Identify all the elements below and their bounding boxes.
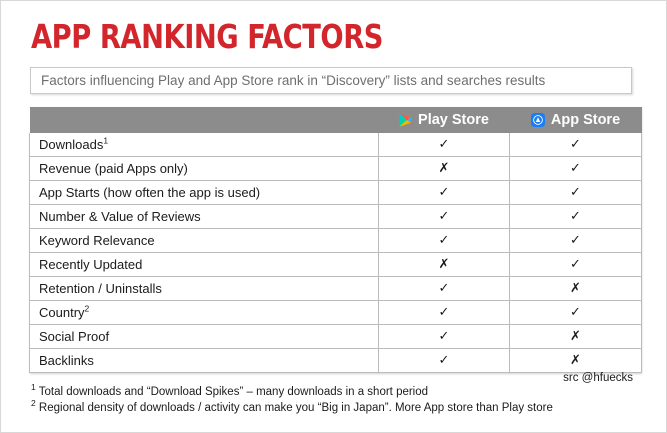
play-store-mark-cell: ✓ bbox=[379, 325, 510, 349]
table-row: App Starts (how often the app is used)✓✓ bbox=[30, 181, 642, 205]
check-icon: ✓ bbox=[439, 209, 450, 224]
slide-canvas: APP RANKING FACTORS Factors influencing … bbox=[0, 0, 667, 433]
table-row: Social Proof✓✗ bbox=[30, 325, 642, 349]
table-header-row: Play Store App St bbox=[30, 107, 642, 133]
factor-name-cell: Backlinks bbox=[30, 349, 379, 373]
app-store-mark-cell: ✓ bbox=[510, 229, 642, 253]
app-store-mark-cell: ✗ bbox=[510, 325, 642, 349]
factor-label: Retention / Uninstalls bbox=[39, 281, 162, 296]
source-credit: src @hfuecks bbox=[563, 372, 633, 384]
play-store-mark-cell: ✗ bbox=[379, 157, 510, 181]
factor-name-cell: Number & Value of Reviews bbox=[30, 205, 379, 229]
app-store-mark-cell: ✓ bbox=[510, 253, 642, 277]
footnote-text: Regional density of downloads / activity… bbox=[36, 402, 553, 414]
factor-name-cell: Revenue (paid Apps only) bbox=[30, 157, 379, 181]
factor-label: Recently Updated bbox=[39, 257, 142, 272]
factor-name-cell: Downloads1 bbox=[30, 133, 379, 157]
column-header-play-store: Play Store bbox=[379, 107, 510, 133]
column-header-app-store: App Store bbox=[510, 107, 642, 133]
factor-label: Revenue (paid Apps only) bbox=[39, 161, 188, 176]
app-store-mark-cell: ✗ bbox=[510, 277, 642, 301]
ranking-factors-table-wrapper: Play Store App St bbox=[29, 107, 641, 373]
play-store-mark-cell: ✓ bbox=[379, 133, 510, 157]
app-store-mark-cell: ✓ bbox=[510, 181, 642, 205]
factor-label: Backlinks bbox=[39, 353, 94, 368]
factor-label: Number & Value of Reviews bbox=[39, 209, 201, 224]
table-row: Country2✓✓ bbox=[30, 301, 642, 325]
table-row: Downloads1✓✓ bbox=[30, 133, 642, 157]
table-row: Backlinks✓✗ bbox=[30, 349, 642, 373]
check-icon: ✓ bbox=[439, 329, 450, 344]
ranking-factors-table: Play Store App St bbox=[29, 107, 642, 373]
check-icon: ✓ bbox=[439, 353, 450, 368]
check-icon: ✓ bbox=[439, 137, 450, 152]
column-header-app-store-label: App Store bbox=[551, 112, 620, 128]
app-store-mark-cell: ✗ bbox=[510, 349, 642, 373]
factor-label: Social Proof bbox=[39, 329, 109, 344]
page-title: APP RANKING FACTORS bbox=[31, 19, 383, 55]
factor-name-cell: Retention / Uninstalls bbox=[30, 277, 379, 301]
check-icon: ✓ bbox=[439, 233, 450, 248]
footnote: 2 Regional density of downloads / activi… bbox=[31, 400, 641, 416]
cross-icon: ✗ bbox=[570, 353, 581, 368]
footnotes-block: 1 Total downloads and “Download Spikes” … bbox=[31, 384, 641, 416]
check-icon: ✓ bbox=[570, 257, 581, 272]
cross-icon: ✗ bbox=[570, 329, 581, 344]
check-icon: ✓ bbox=[570, 137, 581, 152]
column-header-play-store-label: Play Store bbox=[418, 112, 489, 128]
app-store-mark-cell: ✓ bbox=[510, 205, 642, 229]
cross-icon: ✗ bbox=[439, 161, 450, 176]
app-store-mark-cell: ✓ bbox=[510, 133, 642, 157]
table-header: Play Store App St bbox=[30, 107, 642, 133]
factor-name-cell: Keyword Relevance bbox=[30, 229, 379, 253]
factor-label: Downloads bbox=[39, 137, 103, 152]
table-row: Retention / Uninstalls✓✗ bbox=[30, 277, 642, 301]
table-row: Keyword Relevance✓✓ bbox=[30, 229, 642, 253]
table-row: Revenue (paid Apps only)✗✓ bbox=[30, 157, 642, 181]
play-store-mark-cell: ✓ bbox=[379, 229, 510, 253]
factor-name-cell: App Starts (how often the app is used) bbox=[30, 181, 379, 205]
factor-name-cell: Country2 bbox=[30, 301, 379, 325]
footnote-reference: 1 bbox=[103, 136, 108, 146]
footnote-reference: 2 bbox=[85, 304, 90, 314]
check-icon: ✓ bbox=[570, 161, 581, 176]
check-icon: ✓ bbox=[570, 305, 581, 320]
app-store-icon bbox=[531, 113, 545, 127]
app-store-mark-cell: ✓ bbox=[510, 157, 642, 181]
check-icon: ✓ bbox=[570, 233, 581, 248]
play-store-mark-cell: ✓ bbox=[379, 349, 510, 373]
app-store-mark-cell: ✓ bbox=[510, 301, 642, 325]
play-store-mark-cell: ✗ bbox=[379, 253, 510, 277]
check-icon: ✓ bbox=[439, 305, 450, 320]
subtitle-box: Factors influencing Play and App Store r… bbox=[30, 67, 632, 94]
footnote: 1 Total downloads and “Download Spikes” … bbox=[31, 384, 641, 400]
table-body: Downloads1✓✓Revenue (paid Apps only)✗✓Ap… bbox=[30, 133, 642, 373]
footnote-text: Total downloads and “Download Spikes” – … bbox=[36, 386, 428, 398]
check-icon: ✓ bbox=[570, 209, 581, 224]
check-icon: ✓ bbox=[570, 185, 581, 200]
factor-name-cell: Social Proof bbox=[30, 325, 379, 349]
cross-icon: ✗ bbox=[570, 281, 581, 296]
factor-label: App Starts (how often the app is used) bbox=[39, 185, 260, 200]
subtitle-text: Factors influencing Play and App Store r… bbox=[31, 73, 545, 88]
play-store-mark-cell: ✓ bbox=[379, 277, 510, 301]
table-row: Recently Updated✗✓ bbox=[30, 253, 642, 277]
factor-name-cell: Recently Updated bbox=[30, 253, 379, 277]
check-icon: ✓ bbox=[439, 281, 450, 296]
check-icon: ✓ bbox=[439, 185, 450, 200]
cross-icon: ✗ bbox=[439, 257, 450, 272]
google-play-icon bbox=[399, 113, 412, 127]
factor-label: Country bbox=[39, 305, 85, 320]
factor-label: Keyword Relevance bbox=[39, 233, 155, 248]
table-row: Number & Value of Reviews✓✓ bbox=[30, 205, 642, 229]
play-store-mark-cell: ✓ bbox=[379, 181, 510, 205]
column-header-factor bbox=[30, 107, 379, 133]
play-store-mark-cell: ✓ bbox=[379, 301, 510, 325]
play-store-mark-cell: ✓ bbox=[379, 205, 510, 229]
